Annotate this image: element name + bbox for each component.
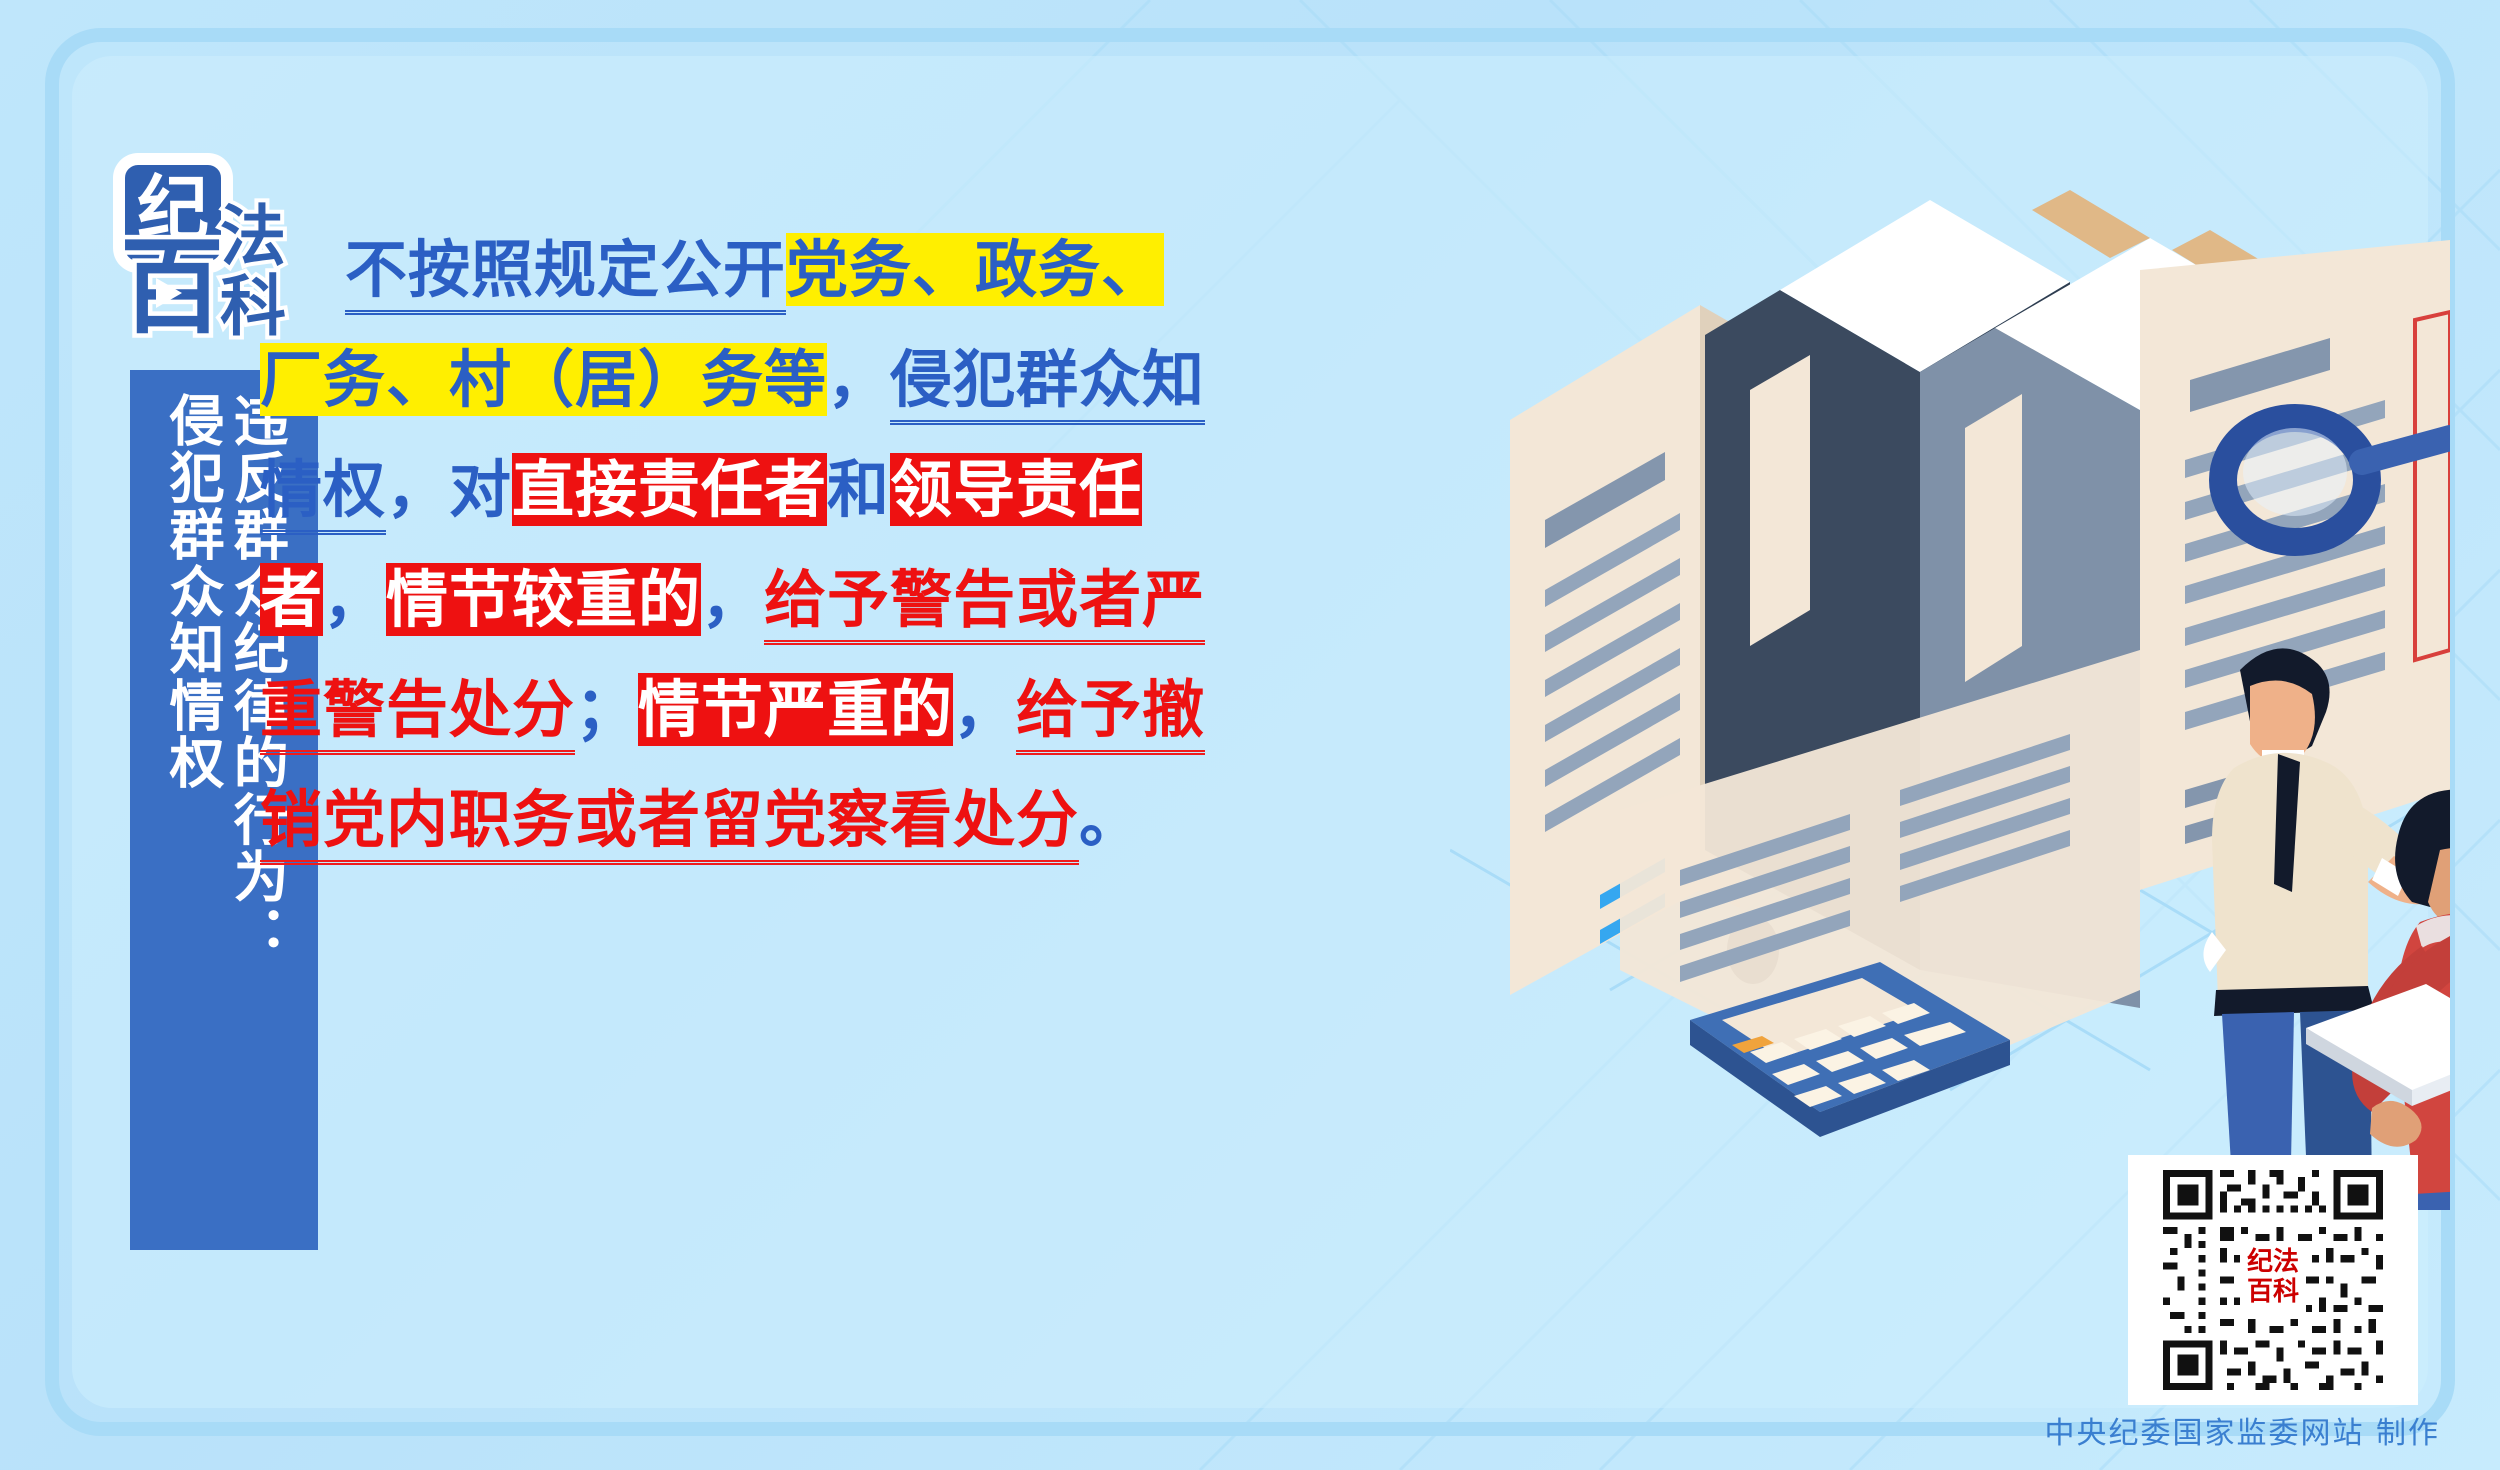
text-segment: ； (575, 673, 638, 746)
qr-center-logo: 纪法百科 (2240, 1247, 2306, 1313)
text-segment: ， (323, 563, 386, 636)
text-segment: 情权 (260, 453, 386, 535)
text-line-4: 者，情节较重的，给予警告或者严 (260, 545, 1420, 655)
isometric-illustration (1450, 90, 2450, 1210)
regulation-text-block: 不按照规定公开党务、政务、厂务、村（居）务等，侵犯群众知情权，对直接责任者和领导… (400, 215, 1420, 875)
text-segment: 情节严重的 (638, 673, 953, 746)
text-segment: 给予警告或者严 (764, 563, 1205, 645)
text-line-3: 情权，对直接责任者和领导责任 (260, 435, 1420, 545)
text-segment: 重警告处分 (260, 673, 575, 755)
text-segment: 厂务、村（居）务等 (260, 343, 827, 416)
text-segment: 。 (1079, 783, 1142, 856)
brand-logo: 纪 百 法科 (110, 150, 340, 350)
text-segment: 领导责任 (890, 453, 1142, 526)
text-segment: 者 (260, 563, 323, 636)
text-segment: 销党内职务或者留党察看处分 (260, 783, 1079, 865)
qr-code[interactable]: 纪法百科 (2128, 1155, 2418, 1405)
text-segment: 不按照规定公开 (345, 233, 786, 315)
text-segment: ，对 (386, 453, 512, 526)
footer-credit: 中央纪委国家监委网站 制作 (2044, 1408, 2440, 1452)
text-segment: ， (827, 343, 890, 416)
text-segment: ， (701, 563, 764, 636)
text-segment: 直接责任者 (512, 453, 827, 526)
text-line-2: 厂务、村（居）务等，侵犯群众知 (260, 325, 1420, 435)
text-segment: 侵犯群众知 (890, 343, 1205, 425)
text-segment: 给予撤 (1016, 673, 1205, 755)
text-segment: 和 (827, 453, 890, 526)
play-triangle-icon (156, 278, 182, 308)
text-segment: 党务、政务、 (786, 233, 1164, 306)
text-line-1: 不按照规定公开党务、政务、 (345, 215, 1420, 325)
text-line-6: 销党内职务或者留党察看处分。 (260, 765, 1420, 875)
banner-column-left: 侵犯群众知情权 (163, 392, 221, 1250)
text-line-5: 重警告处分；情节严重的，给予撤 (260, 655, 1420, 765)
text-segment: ， (953, 673, 1016, 746)
text-segment: 情节较重的 (386, 563, 701, 636)
